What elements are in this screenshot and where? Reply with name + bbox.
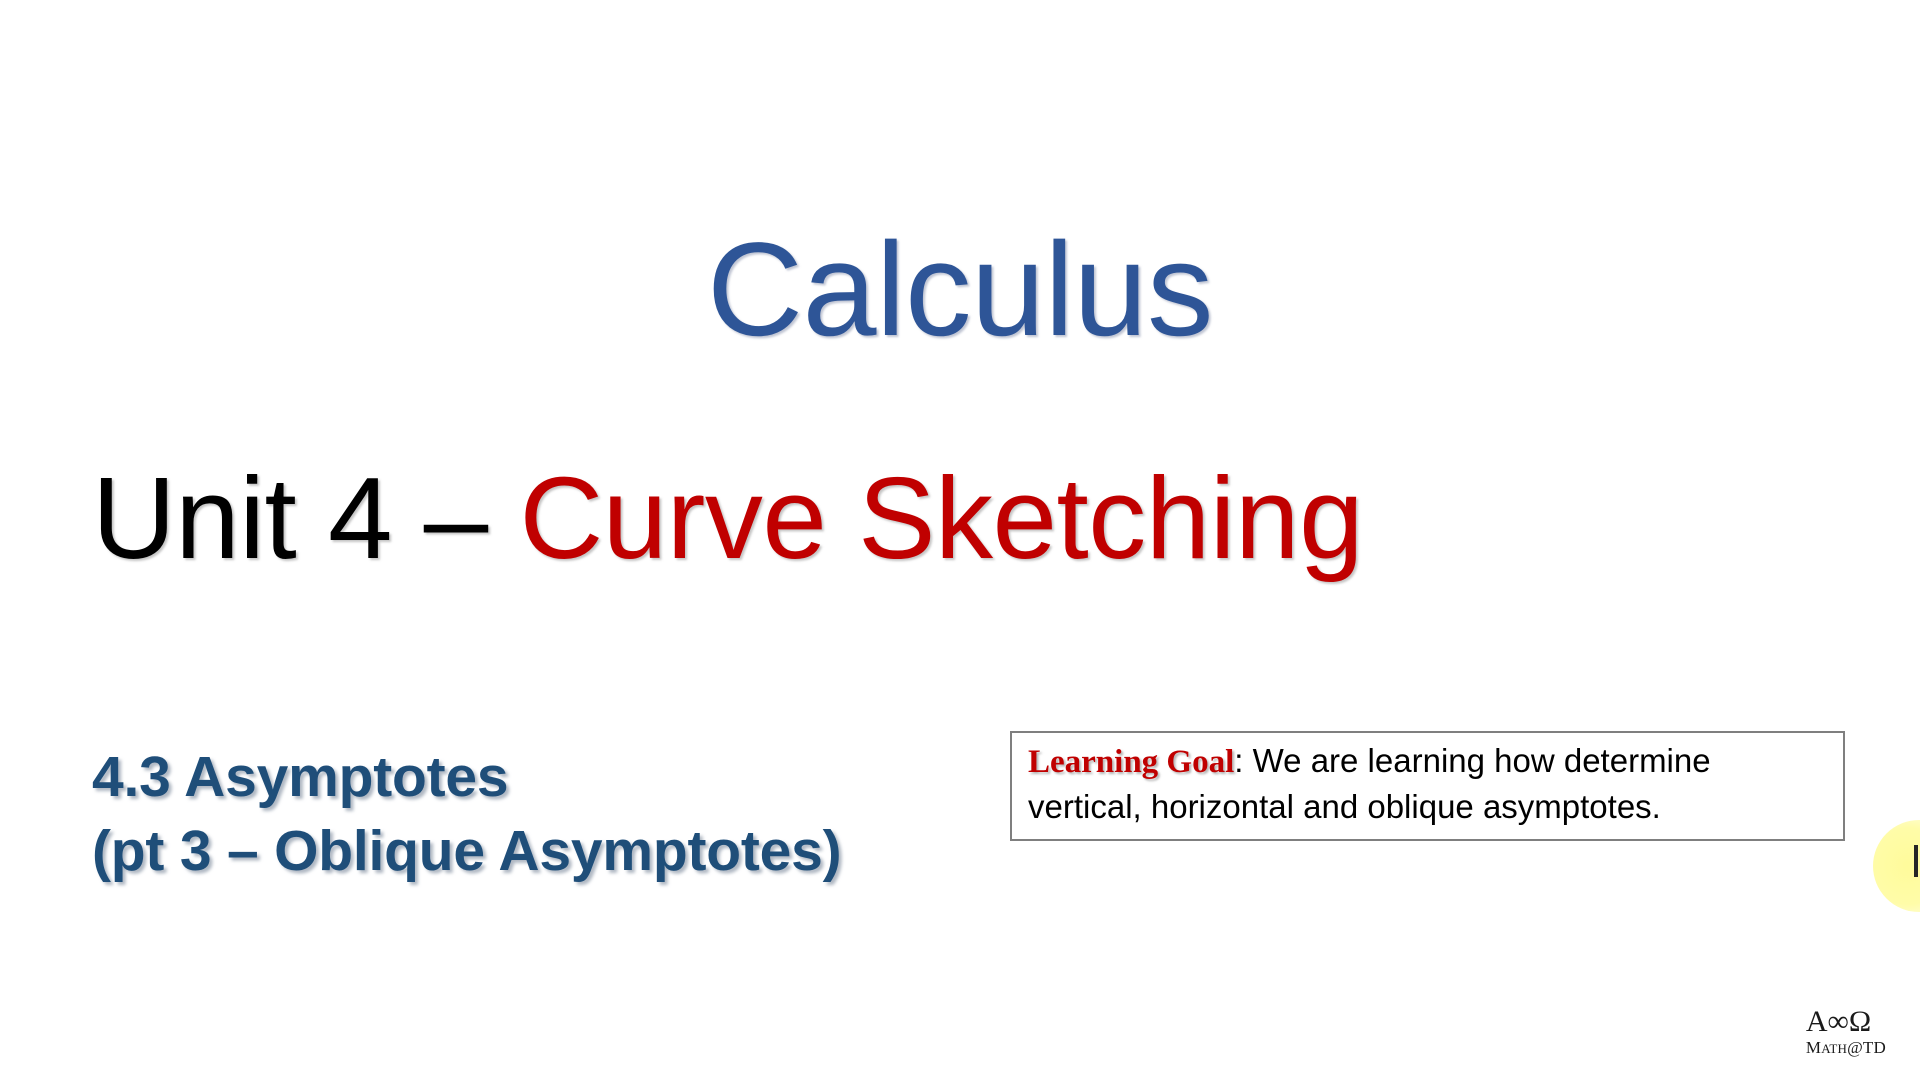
logo-subtitle: MATH@TD bbox=[1806, 1039, 1886, 1056]
highlight-glow-decoration bbox=[1873, 820, 1920, 912]
logo-subtitle-tail: @TD bbox=[1847, 1038, 1886, 1057]
learning-goal-label: Learning Goal bbox=[1028, 744, 1234, 780]
learning-goal-text: Learning Goal: We are learning how deter… bbox=[1028, 739, 1829, 829]
learning-goal-box: Learning Goal: We are learning how deter… bbox=[1010, 731, 1845, 841]
clipped-text-mark bbox=[1914, 845, 1918, 877]
section-heading-line-2: (pt 3 – Oblique Asymptotes) bbox=[92, 814, 841, 888]
logo-subtitle-rest: ATH bbox=[1821, 1041, 1847, 1056]
logo: A∞Ω MATH@TD bbox=[1806, 1007, 1886, 1056]
logo-subtitle-lead: M bbox=[1806, 1038, 1821, 1057]
page-title: Calculus bbox=[0, 216, 1920, 365]
unit-label: Unit 4 – bbox=[92, 453, 520, 583]
logo-mark-glyphs: A∞Ω bbox=[1806, 1007, 1886, 1037]
section-heading: 4.3 Asymptotes (pt 3 – Oblique Asymptote… bbox=[92, 740, 841, 888]
section-heading-line-1: 4.3 Asymptotes bbox=[92, 740, 841, 814]
unit-topic-label: Curve Sketching bbox=[520, 453, 1364, 583]
slide-canvas: Calculus Unit 4 – Curve Sketching 4.3 As… bbox=[0, 0, 1920, 1080]
unit-subtitle: Unit 4 – Curve Sketching bbox=[92, 455, 1363, 583]
